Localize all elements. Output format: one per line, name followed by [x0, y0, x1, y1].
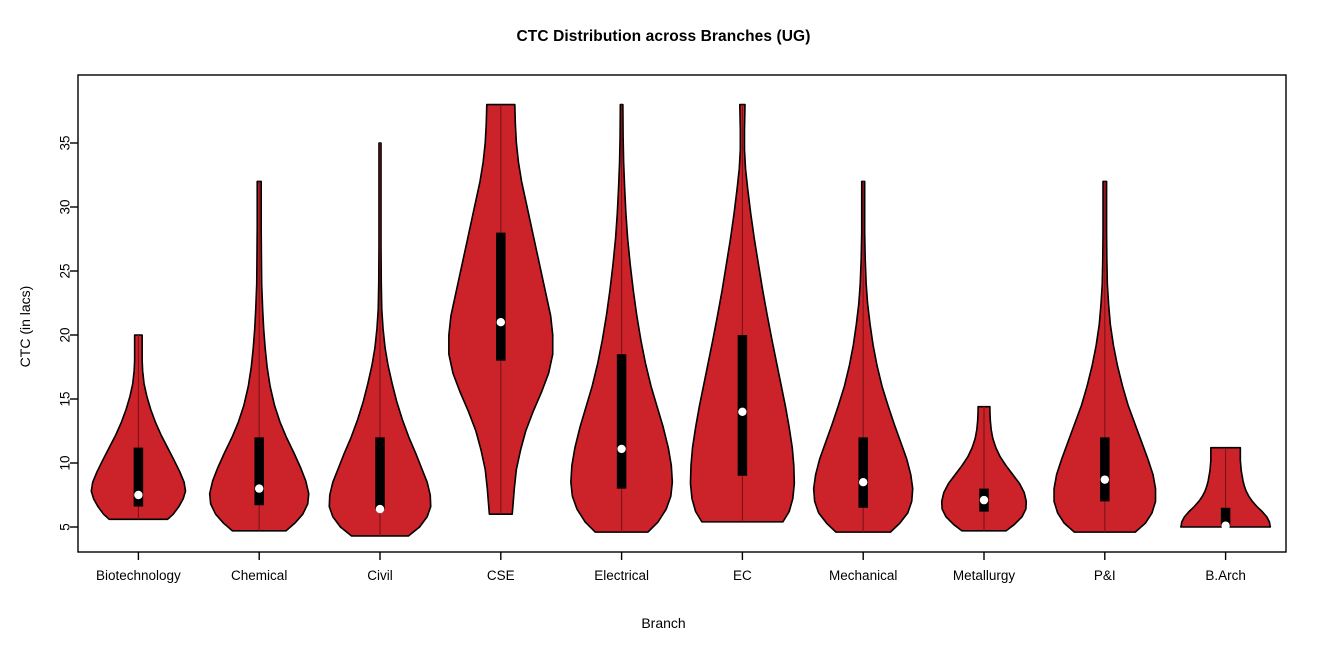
x-tick-label: Chemical	[231, 568, 287, 583]
x-tick-label: Electrical	[594, 568, 649, 583]
x-tick-label: P&I	[1094, 568, 1116, 583]
x-tick-label: CSE	[487, 568, 515, 583]
violin-p-i	[1054, 181, 1155, 532]
x-tick-label: Metallurgy	[953, 568, 1016, 583]
violin-metallurgy	[942, 407, 1027, 531]
x-tick-label: B.Arch	[1205, 568, 1246, 583]
x-tick-label: Biotechnology	[96, 568, 181, 583]
x-axis: BiotechnologyChemicalCivilCSEElectricalE…	[96, 552, 1246, 583]
median-point	[255, 484, 263, 492]
violin-cse	[449, 105, 553, 515]
median-point	[1221, 522, 1229, 530]
violin-mechanical	[814, 181, 913, 532]
x-tick-label: Civil	[367, 568, 393, 583]
violin-chemical	[210, 181, 309, 530]
y-axis: 5101520253035	[58, 135, 79, 530]
y-tick-label: 10	[58, 455, 73, 470]
violin-ec	[690, 105, 794, 522]
violin-electrical	[571, 105, 672, 533]
x-tick-label: EC	[733, 568, 752, 583]
x-tick-label: Mechanical	[829, 568, 897, 583]
median-point	[617, 445, 625, 453]
median-point	[497, 318, 505, 326]
median-point	[738, 408, 746, 416]
plot-canvas: 5101520253035 BiotechnologyChemicalCivil…	[0, 0, 1327, 653]
violin-plot-figure: CTC Distribution across Branches (UG) CT…	[0, 0, 1327, 653]
median-point	[1101, 475, 1109, 483]
y-tick-label: 25	[58, 263, 73, 278]
median-point	[980, 496, 988, 504]
violin-b-arch	[1181, 448, 1270, 530]
y-tick-label: 5	[58, 523, 73, 531]
median-point	[134, 491, 142, 499]
y-tick-label: 35	[58, 135, 73, 150]
violin-biotechnology	[91, 335, 185, 519]
y-tick-label: 15	[58, 391, 73, 406]
median-point	[859, 478, 867, 486]
violin-series-group	[91, 105, 1270, 536]
y-tick-label: 30	[58, 199, 73, 214]
median-point	[376, 505, 384, 513]
y-tick-label: 20	[58, 327, 73, 342]
violin-civil	[329, 143, 430, 536]
